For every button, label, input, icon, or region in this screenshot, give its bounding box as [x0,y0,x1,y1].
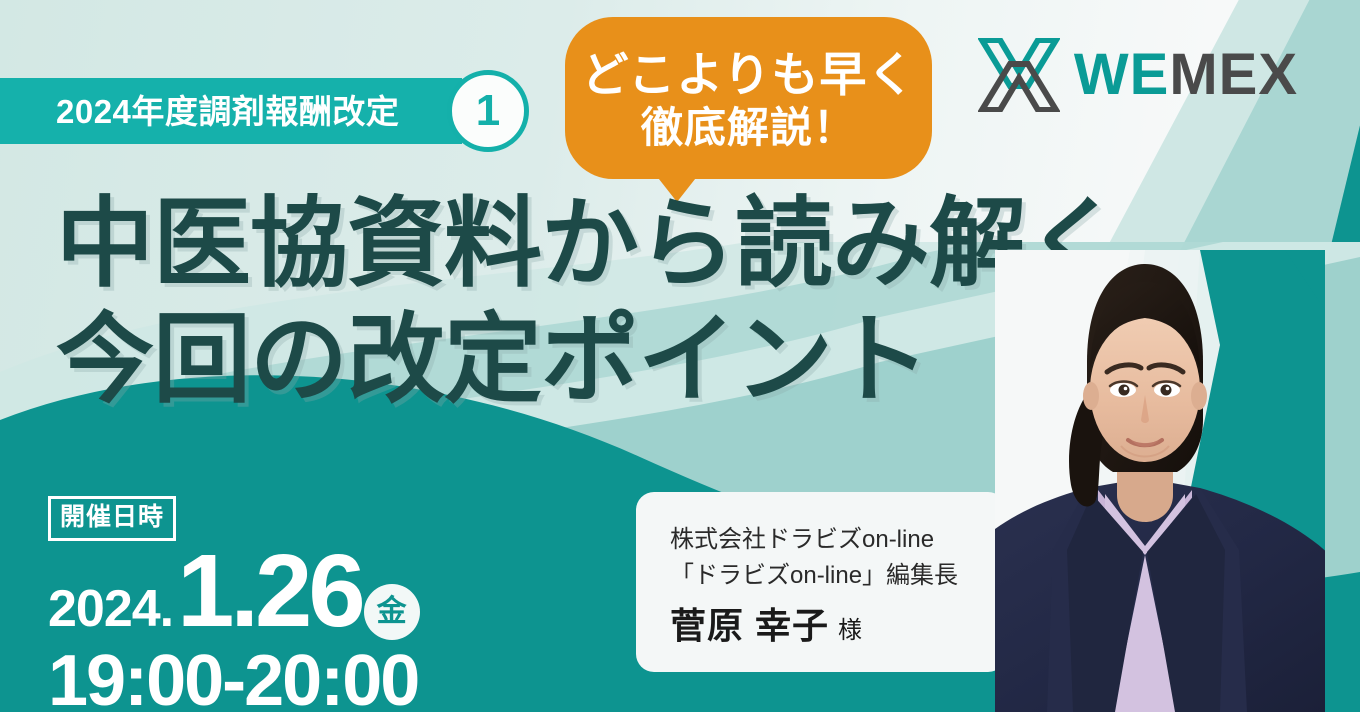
speaker-portrait-photo [995,250,1325,712]
page-title: 中医協資料から読み解く 今回の改定ポイント [56,186,1123,417]
series-badge-number: 1 [447,70,529,152]
speech-bubble-line-1: どこよりも早く [582,50,916,99]
series-badge-label: 2024年度調剤報酬改定 [56,95,399,128]
webinar-banner: 2024年度調剤報酬改定 1 どこよりも早く 徹底解説！ WEMEX 中医協資料… [0,0,1360,712]
speaker-company: 株式会社ドラビズon-line [670,522,980,558]
wemex-logo: WEMEX [978,38,1298,112]
speaker-name-row: 菅原 幸子 様 [670,606,980,646]
event-day: 1.26 [177,539,361,642]
speaker-name: 菅原 幸子 [670,606,829,646]
wemex-word-we: WE [1074,42,1169,107]
speaker-role: 「ドラビズon-line」編集長 [670,558,980,594]
event-weekday-badge: 金 [364,584,420,640]
event-date-row: 2024. 1.26 金 [48,539,420,642]
headline-line-2: 今回の改定ポイント [56,302,1123,418]
speaker-honorific: 様 [838,618,862,644]
wemex-wordmark: WEMEX [1074,46,1298,104]
headline-line-1: 中医協資料から読み解く [56,186,1123,302]
event-year: 2024. [48,583,173,635]
event-time: 19:00-20:00 [48,644,420,712]
series-badge-bar: 2024年度調剤報酬改定 [0,78,462,144]
event-datetime-block: 開催日時 2024. 1.26 金 19:00-20:00 [48,496,420,712]
wemex-word-mex: MEX [1169,42,1298,107]
highlight-speech-bubble: どこよりも早く 徹底解説！ [565,17,932,179]
speech-bubble-line-2: 徹底解説！ [641,106,856,150]
event-datetime-label: 開催日時 [48,496,176,541]
speaker-info-card: 株式会社ドラビズon-line 「ドラビズon-line」編集長 菅原 幸子 様 [636,492,1006,672]
wemex-x-mark-icon [978,38,1060,112]
